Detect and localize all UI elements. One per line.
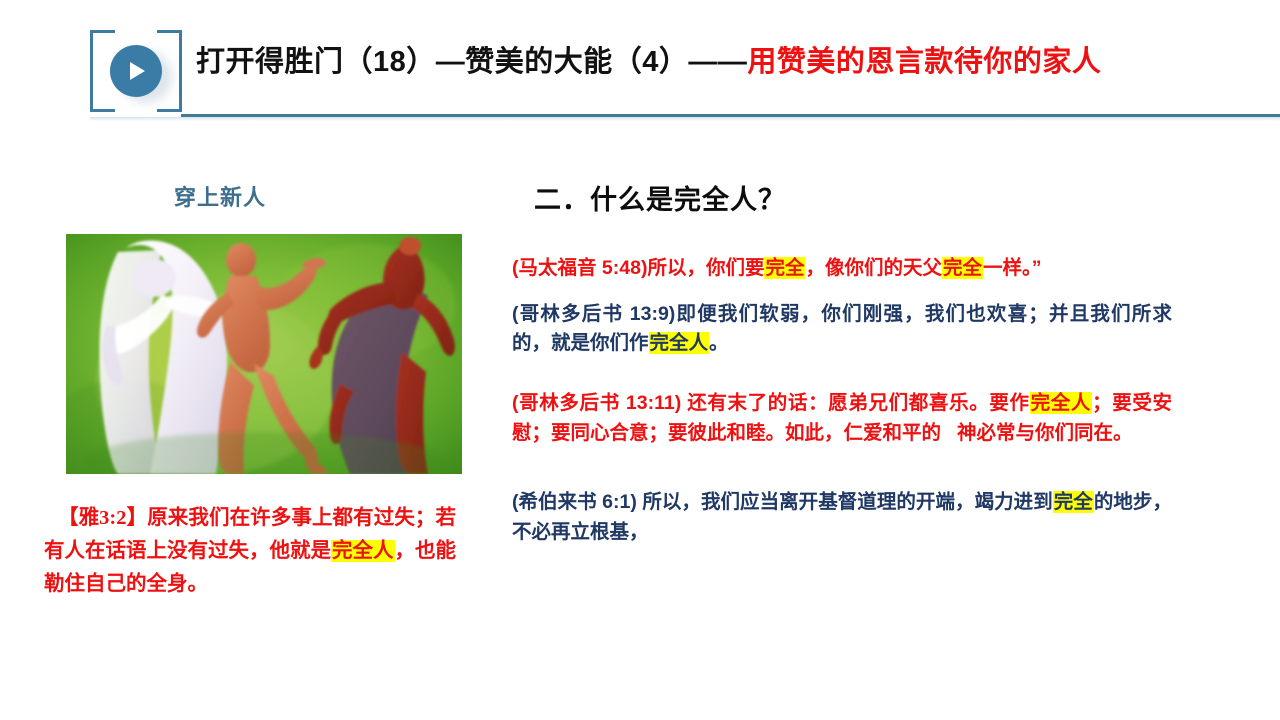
scripture-caption: 【雅3:2】原来我们在许多事上都有过失；若有人在话语上没有过失，他就是完全人，也… [44, 502, 456, 602]
verse-highlight-1: 完全 [764, 257, 805, 279]
frame-rail-left [90, 30, 93, 112]
verse-reference: (马太福音 5:48) [512, 257, 647, 279]
header-rule-glow [90, 117, 1280, 121]
verse-reference: (哥林多后书 13:11) [512, 392, 681, 414]
verse-text-1: 还有末了的话：愿弟兄们都喜乐。要作 [681, 392, 1029, 414]
verse-text-3: 一样。” [983, 257, 1042, 279]
slide-header: 打开得胜门（18）—赞美的大能（4）——用赞美的恩言款待你的家人 [0, 0, 1280, 130]
verse-highlight-1: 完全人 [649, 332, 710, 354]
verse-text-1: 所以，你们要 [647, 257, 764, 279]
verse-reference: (哥林多后书 13:9) [512, 303, 675, 325]
verse-item-matthew: (马太福音 5:48)所以，你们要完全，像你们的天父完全一样。” [512, 254, 1172, 284]
page-title-main: 打开得胜门（18）—赞美的大能（4）—— [196, 46, 747, 78]
verse-item-hebrews: (希伯来书 6:1) 所以，我们应当离开基督道理的开端，竭力进到完全的地步，不必… [512, 488, 1172, 547]
play-circle-icon[interactable] [110, 45, 162, 97]
verse-text-2: 。 [709, 332, 729, 354]
verse-item-2corinthians-13-11: (哥林多后书 13:11) 还有末了的话：愿弟兄们都喜乐。要作完全人；要受安慰；… [512, 389, 1172, 448]
left-column: 穿上新人 [0, 150, 500, 710]
section-heading: 二．什么是完全人？ [534, 178, 786, 217]
header-divider [181, 114, 1280, 117]
bracket-frame-icon [90, 30, 182, 112]
frame-corner-bottom-left [90, 87, 115, 112]
page-title: 打开得胜门（18）—赞美的大能（4）——用赞美的恩言款待你的家人 [196, 46, 1101, 79]
frame-rail-right [179, 30, 182, 112]
verse-reference: (希伯来书 6:1) [512, 491, 637, 513]
page-title-accent: 用赞美的恩言款待你的家人 [747, 46, 1101, 78]
caption-reference: 【雅3:2】 [44, 507, 147, 529]
verse-highlight-2: 完全 [942, 257, 983, 279]
caption-highlight: 完全人 [331, 540, 395, 562]
frame-corner-top-left [90, 30, 115, 55]
dancing-figures-artwork [66, 234, 462, 474]
verse-text-1: 所以，我们应当离开基督道理的开端，竭力进到 [637, 491, 1053, 513]
verse-text-2: ，像你们的天父 [805, 257, 942, 279]
verse-text-3: 神必常与你们同在。 [957, 422, 1133, 444]
left-heading: 穿上新人 [0, 180, 500, 212]
verse-highlight-1: 完全人 [1030, 392, 1092, 414]
verse-list: (马太福音 5:48)所以，你们要完全，像你们的天父完全一样。” (哥林多后书 … [512, 254, 1172, 547]
verse-highlight-1: 完全 [1053, 491, 1094, 513]
verse-item-2corinthians-13-9: (哥林多后书 13:9)即便我们软弱，你们刚强，我们也欢喜；并且我们所求的，就是… [512, 300, 1172, 359]
